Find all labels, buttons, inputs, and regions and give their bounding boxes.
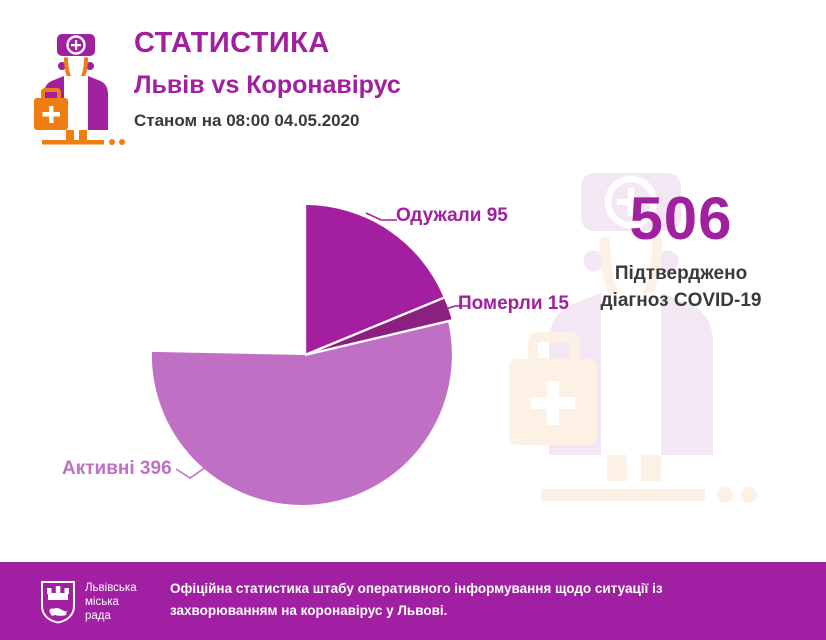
lviv-city-council-logo[interactable]: Львівська міська рада — [40, 578, 168, 626]
confirmed-cases-stat: 506 Підтверджено діагноз COVID-19 — [566, 188, 796, 314]
page-subtitle: Львів vs Коронавірус — [134, 70, 694, 100]
lviv-coat-of-arms-icon — [40, 580, 76, 624]
leader-line-recovered — [366, 213, 397, 220]
footer-disclaimer: Офіційна статистика штабу оперативного і… — [170, 578, 770, 622]
header: СТАТИСТИКА Львів vs Коронавірус Станом н… — [0, 0, 826, 165]
pie-label-recovered: Одужали 95 — [396, 205, 508, 227]
lviv-city-council-label: Львівська міська рада — [85, 581, 137, 623]
page-title: СТАТИСТИКА — [134, 26, 694, 60]
logo-line-2: міська — [85, 595, 137, 609]
pie-label-active: Активні 396 — [62, 458, 172, 480]
confirmed-cases-caption-line1: Підтверджено — [566, 260, 796, 287]
as-of-date: Станом на 08:00 04.05.2020 — [134, 110, 694, 132]
pie-label-deceased: Померли 15 — [458, 293, 569, 315]
doctor-icon — [22, 26, 130, 150]
leader-line-active — [176, 467, 206, 478]
confirmed-cases-caption-line2: діагноз COVID-19 — [566, 287, 796, 314]
infographic-root: СТАТИСТИКА Львів vs Коронавірус Станом н… — [0, 0, 826, 640]
logo-line-1: Львівська — [85, 581, 137, 595]
header-text-block: СТАТИСТИКА Львів vs Коронавірус Станом н… — [134, 26, 694, 132]
logo-line-3: рада — [85, 609, 137, 623]
confirmed-cases-number: 506 — [566, 188, 796, 250]
